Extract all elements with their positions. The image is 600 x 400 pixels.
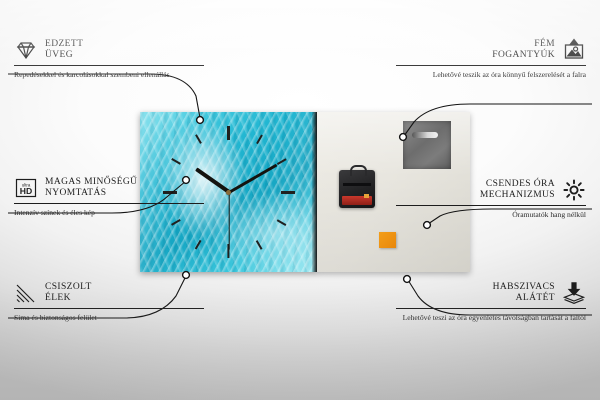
feature-title: CSENDES ÓRAMECHANIZMUS bbox=[480, 179, 555, 202]
minute-hand bbox=[228, 163, 277, 193]
hanger-slot bbox=[412, 132, 438, 138]
feature-rule bbox=[396, 308, 586, 309]
feature-foam-pad: HABSZIVACSALÁTÉT Lehetővé teszi az óra e… bbox=[396, 281, 586, 323]
feature-header: CSENDES ÓRAMECHANIZMUS bbox=[396, 178, 586, 202]
feature-header: FÉMFOGANTYÚK bbox=[396, 38, 586, 62]
ultra-hd-icon: ultra HD bbox=[14, 176, 38, 200]
mechanism-slit bbox=[343, 183, 371, 186]
battery bbox=[342, 196, 372, 205]
feature-description: Sima és biztonságos felület bbox=[14, 313, 204, 323]
hour-mark bbox=[171, 158, 180, 164]
gear-icon bbox=[562, 178, 586, 202]
feature-rule bbox=[14, 203, 204, 204]
polished-edge-icon bbox=[14, 281, 38, 305]
hour-mark bbox=[171, 219, 180, 225]
diamond-icon bbox=[14, 38, 38, 62]
hour-mark bbox=[281, 191, 295, 194]
feature-header: ultra HD MAGAS MINŐSÉGŰNYOMTATÁS bbox=[14, 176, 204, 200]
feature-rule bbox=[396, 205, 586, 206]
metal-hanger-plate bbox=[403, 121, 451, 169]
feature-description: Lehetővé teszi az óra egyenletes távolsá… bbox=[396, 313, 586, 323]
feature-description: Lehetővé teszik az óra könnyű felszerelé… bbox=[396, 70, 586, 80]
picture-hanger-icon bbox=[562, 38, 586, 62]
hour-mark bbox=[195, 240, 201, 249]
feature-title: EDZETTÜVEG bbox=[45, 39, 83, 62]
feature-high-quality-print: ultra HD MAGAS MINŐSÉGŰNYOMTATÁS Intenzí… bbox=[14, 176, 204, 218]
clock-mechanism bbox=[339, 170, 375, 208]
hour-mark bbox=[277, 158, 286, 164]
second-hand bbox=[228, 192, 229, 250]
feature-title: MAGAS MINŐSÉGŰNYOMTATÁS bbox=[45, 177, 137, 200]
hour-mark bbox=[256, 134, 262, 143]
feature-polished-edges: CSISZOLTÉLEK Sima és biztonságos felület bbox=[14, 281, 204, 323]
hand-cap bbox=[226, 190, 231, 195]
feature-rule bbox=[14, 308, 204, 309]
hour-mark bbox=[195, 134, 201, 143]
mechanism-loop bbox=[350, 165, 367, 176]
feature-rule bbox=[14, 65, 204, 66]
feature-header: CSISZOLTÉLEK bbox=[14, 281, 204, 305]
feature-title: HABSZIVACSALÁTÉT bbox=[493, 282, 555, 305]
hour-mark bbox=[227, 126, 229, 140]
foam-pad bbox=[379, 232, 396, 248]
feature-metal-handles: FÉMFOGANTYÚK Lehetővé teszik az óra könn… bbox=[396, 38, 586, 80]
hour-mark bbox=[256, 240, 262, 249]
feature-description: Repedésekkel és karcolásokkal szembeni e… bbox=[14, 70, 204, 80]
hour-mark bbox=[277, 219, 286, 225]
feature-description: Intenzív színek és éles kép bbox=[14, 208, 204, 218]
feature-header: HABSZIVACSALÁTÉT bbox=[396, 281, 586, 305]
feature-title: CSISZOLTÉLEK bbox=[45, 282, 92, 305]
infographic-stage: EDZETTÜVEG Repedésekkel és karcolásokkal… bbox=[0, 0, 600, 400]
feature-header: EDZETTÜVEG bbox=[14, 38, 204, 62]
svg-text:HD: HD bbox=[20, 186, 32, 196]
feature-tempered-glass: EDZETTÜVEG Repedésekkel és karcolásokkal… bbox=[14, 38, 204, 80]
foam-pad-icon bbox=[562, 281, 586, 305]
feature-title: FÉMFOGANTYÚK bbox=[492, 39, 555, 62]
feature-rule bbox=[396, 65, 586, 66]
feature-silent-mechanism: CSENDES ÓRAMECHANIZMUS Óramutatók hang n… bbox=[396, 178, 586, 220]
feature-description: Óramutatók hang nélkül bbox=[396, 210, 586, 220]
